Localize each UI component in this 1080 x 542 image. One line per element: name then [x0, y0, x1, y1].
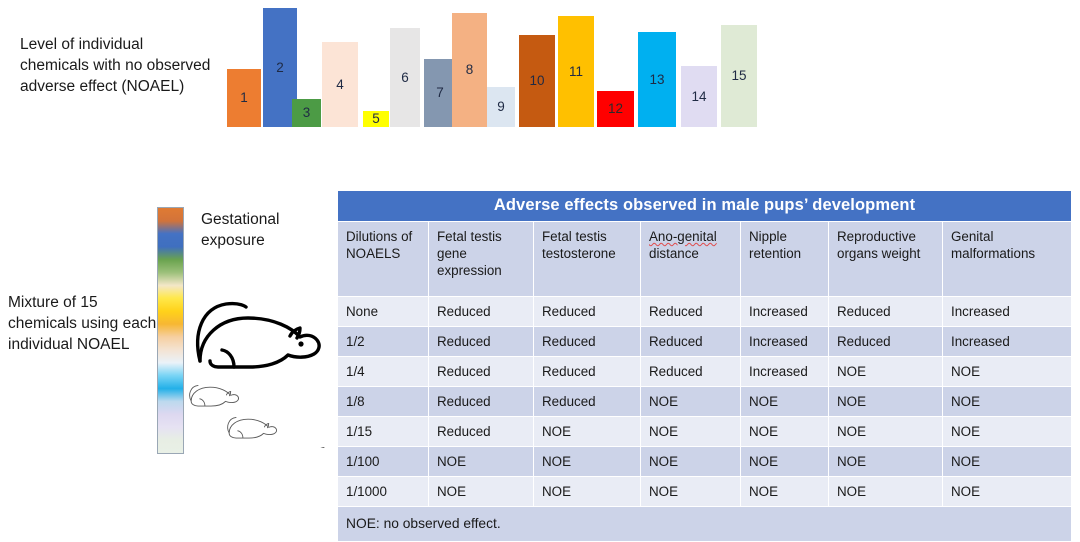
bar-1: 1 — [227, 69, 261, 127]
table-footer-row: NOE: no observed effect. — [338, 507, 1072, 542]
bar-label-1: 1 — [240, 91, 248, 105]
table-row: 1/15ReducedNOENOENOENOENOE — [338, 417, 1072, 447]
effect-cell: NOE — [534, 477, 641, 507]
table-row: 1/4ReducedReducedReducedIncreasedNOENOE — [338, 357, 1072, 387]
table-footnote: NOE: no observed effect. — [338, 507, 1072, 542]
table-title-row: Adverse effects observed in male pups’ d… — [338, 191, 1072, 222]
effect-cell: Increased — [741, 327, 829, 357]
table-row: 1/1000NOENOENOENOENOENOE — [338, 477, 1072, 507]
bar-14: 14 — [681, 66, 717, 127]
effect-cell: NOE — [943, 387, 1072, 417]
effect-cell: Increased — [943, 297, 1072, 327]
column-header-4: Nipple retention — [741, 222, 829, 297]
gestational-exposure-label: Gestational exposure — [201, 209, 321, 251]
table-row: 1/2ReducedReducedReducedIncreasedReduced… — [338, 327, 1072, 357]
bar-label-7: 7 — [436, 86, 444, 100]
column-header-0: Dilutions of NOAELS — [338, 222, 429, 297]
column-header-5: Reproductive organs weight — [829, 222, 943, 297]
effect-cell: NOE — [741, 387, 829, 417]
bar-label-8: 8 — [466, 63, 474, 77]
column-header-1: Fetal testis gene expression — [429, 222, 534, 297]
effect-cell: NOE — [641, 477, 741, 507]
effect-cell: NOE — [741, 447, 829, 477]
bar-label-13: 13 — [649, 73, 664, 87]
effect-cell: Reduced — [829, 297, 943, 327]
effect-cell: NOE — [429, 447, 534, 477]
bar-12: 12 — [597, 91, 634, 127]
table-row: NoneReducedReducedReducedIncreasedReduce… — [338, 297, 1072, 327]
effect-cell: Reduced — [641, 297, 741, 327]
bar-label-3: 3 — [303, 106, 311, 120]
table-row: 1/100NOENOENOENOENOENOE — [338, 447, 1072, 477]
bar-label-5: 5 — [372, 112, 380, 126]
bar-11: 11 — [558, 16, 594, 127]
mouse-with-pups-icon — [188, 288, 328, 448]
effect-cell: Reduced — [534, 327, 641, 357]
dilution-cell: 1/1000 — [338, 477, 429, 507]
adverse-effects-table: Adverse effects observed in male pups’ d… — [337, 190, 1072, 542]
bar-15: 15 — [721, 25, 757, 127]
bar-label-4: 4 — [336, 78, 344, 92]
effect-cell: NOE — [829, 477, 943, 507]
table-row: 1/8ReducedReducedNOENOENOENOE — [338, 387, 1072, 417]
effect-cell: NOE — [429, 477, 534, 507]
bar-10: 10 — [519, 35, 555, 127]
effect-cell: Increased — [741, 357, 829, 387]
effect-cell: Increased — [943, 327, 1072, 357]
bar-label-9: 9 — [497, 100, 505, 114]
effect-cell: NOE — [641, 387, 741, 417]
effect-cell: NOE — [943, 447, 1072, 477]
effect-cell: NOE — [943, 357, 1072, 387]
effect-cell: NOE — [829, 387, 943, 417]
slide-canvas: Level of individual chemicals with no ob… — [0, 0, 1080, 540]
effect-cell: NOE — [534, 417, 641, 447]
effect-cell: NOE — [534, 447, 641, 477]
bar-4: 4 — [322, 42, 358, 127]
bar-9: 9 — [487, 87, 515, 127]
effect-cell: Reduced — [429, 357, 534, 387]
column-header-6: Genital malformations — [943, 222, 1072, 297]
effect-cell: Reduced — [429, 417, 534, 447]
noael-bar-chart: 123456789101112131415 — [0, 0, 1080, 140]
table-title: Adverse effects observed in male pups’ d… — [338, 191, 1072, 222]
effect-cell: NOE — [829, 417, 943, 447]
spellcheck-underline: Ano-genital — [649, 229, 717, 244]
effect-cell: NOE — [829, 357, 943, 387]
dilution-cell: 1/2 — [338, 327, 429, 357]
table-header-row: Dilutions of NOAELSFetal testis gene exp… — [338, 222, 1072, 297]
bar-13: 13 — [638, 32, 676, 127]
dilution-cell: 1/15 — [338, 417, 429, 447]
effect-cell: Reduced — [429, 387, 534, 417]
bar-3: 3 — [292, 99, 321, 127]
bar-label-12: 12 — [608, 102, 623, 116]
dilution-cell: 1/8 — [338, 387, 429, 417]
effect-cell: Reduced — [429, 297, 534, 327]
effect-cell: Reduced — [534, 387, 641, 417]
effect-cell: NOE — [741, 417, 829, 447]
color-gradient-strip-icon — [157, 207, 184, 454]
effect-cell: NOE — [943, 477, 1072, 507]
effect-cell: Reduced — [829, 327, 943, 357]
effect-cell: NOE — [741, 477, 829, 507]
effect-cell: NOE — [829, 447, 943, 477]
bar-label-15: 15 — [731, 69, 746, 83]
bar-5: 5 — [363, 111, 389, 127]
dilution-cell: None — [338, 297, 429, 327]
column-header-2: Fetal testis testosterone — [534, 222, 641, 297]
effect-cell: Reduced — [429, 327, 534, 357]
effect-cell: NOE — [641, 447, 741, 477]
effect-cell: Reduced — [641, 327, 741, 357]
mixture-caption: Mixture of 15 chemicals using each indiv… — [8, 292, 158, 355]
column-header-3: Ano-genital distance — [641, 222, 741, 297]
effect-cell: Reduced — [641, 357, 741, 387]
effect-cell: Reduced — [534, 357, 641, 387]
dilution-cell: 1/100 — [338, 447, 429, 477]
bar-6: 6 — [390, 28, 420, 127]
bar-label-11: 11 — [569, 65, 583, 79]
bar-label-6: 6 — [401, 71, 409, 85]
bar-label-14: 14 — [691, 90, 706, 104]
bar-label-10: 10 — [529, 74, 544, 88]
dilution-cell: 1/4 — [338, 357, 429, 387]
effect-cell: NOE — [641, 417, 741, 447]
table-body: NoneReducedReducedReducedIncreasedReduce… — [338, 297, 1072, 507]
bar-8: 8 — [452, 13, 487, 127]
effect-cell: NOE — [943, 417, 1072, 447]
effect-cell: Reduced — [534, 297, 641, 327]
effect-cell: Increased — [741, 297, 829, 327]
bar-label-2: 2 — [276, 61, 284, 75]
